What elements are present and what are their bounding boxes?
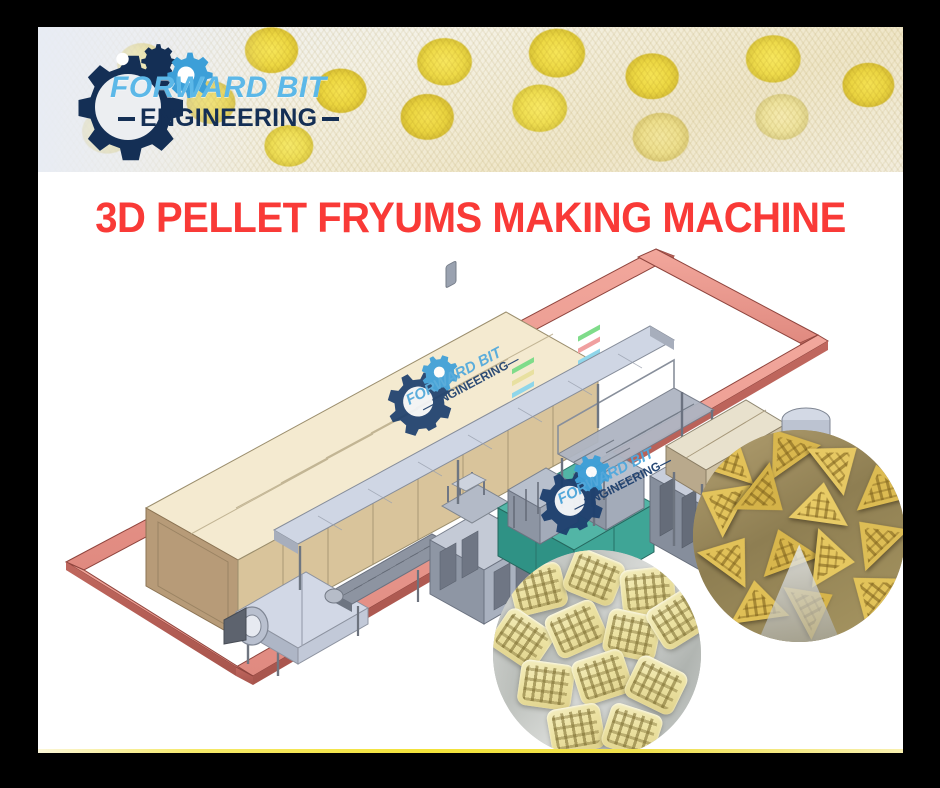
logo-engineering-text: ENGINEERING: [140, 106, 317, 131]
product-photo-triangle-fryums: [693, 430, 903, 642]
logo-line-engineering: ENGINEERING: [118, 106, 340, 131]
triangle-fryums-image: [693, 430, 903, 642]
product-photo-lattice-pellets: [493, 550, 701, 753]
lattice-pellets-image: [493, 550, 701, 753]
header-banner: FORWARD BIT ENGINEERING: [38, 27, 903, 172]
logo-wordmark: FORWARD BIT ENGINEERING: [110, 73, 340, 131]
logo-dash-right: [322, 117, 339, 121]
page-title: 3D PELLET FRYUMS MAKING MACHINE: [68, 194, 872, 243]
accent-strip: [38, 749, 903, 753]
content-panel: 3D PELLET FRYUMS MAKING MACHINE: [38, 172, 903, 753]
logo-dash-left: [118, 117, 135, 121]
slide-canvas: FORWARD BIT ENGINEERING 3D PELLET FRYUMS…: [0, 0, 940, 788]
brand-logo: FORWARD BIT ENGINEERING: [48, 31, 338, 169]
logo-line-forward-bit: FORWARD BIT: [110, 73, 340, 103]
